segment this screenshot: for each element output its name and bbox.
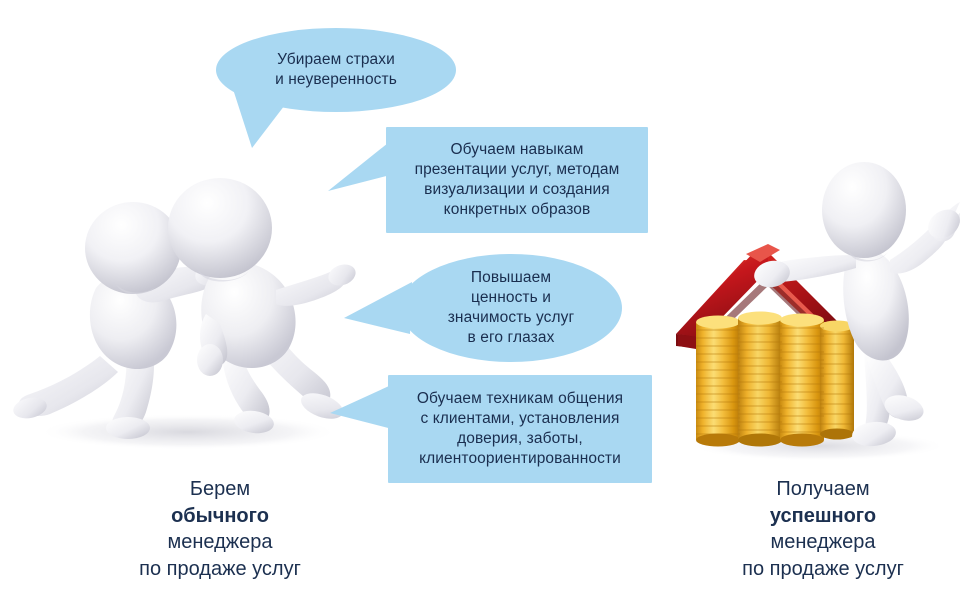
speech-bubble-4-line-3: доверия, заботы, bbox=[457, 429, 583, 449]
caption-left-line-2: обычного bbox=[60, 503, 380, 530]
caption-left-line-1: Берем bbox=[60, 476, 380, 503]
caption-left: Берем обычного менеджера по продаже услу… bbox=[60, 476, 380, 582]
caption-right-line-1: Получаем bbox=[690, 476, 956, 503]
caption-right-line-4: по продаже услуг bbox=[690, 556, 956, 583]
left-artwork-two-figures-pushing bbox=[8, 160, 358, 460]
speech-bubble-1-line-2: и неуверенность bbox=[275, 70, 397, 90]
speech-bubble-3-line-2: ценность и bbox=[471, 288, 551, 308]
speech-bubble-1-line-1: Убираем страхи bbox=[277, 50, 395, 70]
speech-bubble-3-line-4: в его глазах bbox=[468, 328, 555, 348]
speech-bubble-2-line-1: Обучаем навыкам bbox=[450, 140, 583, 160]
gold-coin-stacks bbox=[696, 312, 854, 447]
two-white-3d-figures-pushing-icon bbox=[8, 160, 358, 460]
white-3d-figure-with-coin-house-icon bbox=[668, 158, 960, 460]
speech-bubble-4-line-1: Обучаем техникам общения bbox=[417, 389, 623, 409]
speech-bubble-1-body: Убираем страхи и неуверенность bbox=[216, 28, 456, 112]
speech-bubble-2-body: Обучаем навыкам презентации услуг, метод… bbox=[386, 127, 648, 233]
speech-bubble-2-line-2: презентации услуг, методам bbox=[415, 160, 620, 180]
speech-bubble-3-line-1: Повышаем bbox=[471, 268, 551, 288]
speech-bubble-2-line-4: конкретных образов bbox=[444, 200, 591, 220]
speech-bubble-2-line-3: визуализации и создания bbox=[424, 180, 610, 200]
speech-bubble-4: Обучаем техникам общения с клиентами, ус… bbox=[388, 375, 652, 483]
speech-bubble-2: Обучаем навыкам презентации услуг, метод… bbox=[386, 127, 648, 233]
speech-bubble-4-body: Обучаем техникам общения с клиентами, ус… bbox=[388, 375, 652, 483]
speech-bubble-3: Повышаем ценность и значимость услуг в е… bbox=[400, 254, 622, 362]
speech-bubble-3-line-3: значимость услуг bbox=[448, 308, 575, 328]
figure-right-pushed bbox=[168, 178, 358, 436]
speech-bubble-4-line-2: с клиентами, установления bbox=[420, 409, 619, 429]
caption-right-line-2: успешного bbox=[690, 503, 956, 530]
caption-right-line-3: менеджера bbox=[690, 529, 956, 556]
speech-bubble-1: Убираем страхи и неуверенность bbox=[216, 28, 456, 112]
infographic-canvas: Убираем страхи и неуверенность Обучаем н… bbox=[0, 0, 960, 608]
right-artwork-figure-with-coin-house bbox=[668, 158, 960, 460]
caption-left-line-3: менеджера bbox=[60, 529, 380, 556]
caption-left-line-4: по продаже услуг bbox=[60, 556, 380, 583]
caption-right: Получаем успешного менеджера по продаже … bbox=[690, 476, 956, 582]
speech-bubble-4-line-4: клиентоориентированности bbox=[419, 449, 621, 469]
speech-bubble-3-body: Повышаем ценность и значимость услуг в е… bbox=[400, 254, 622, 362]
